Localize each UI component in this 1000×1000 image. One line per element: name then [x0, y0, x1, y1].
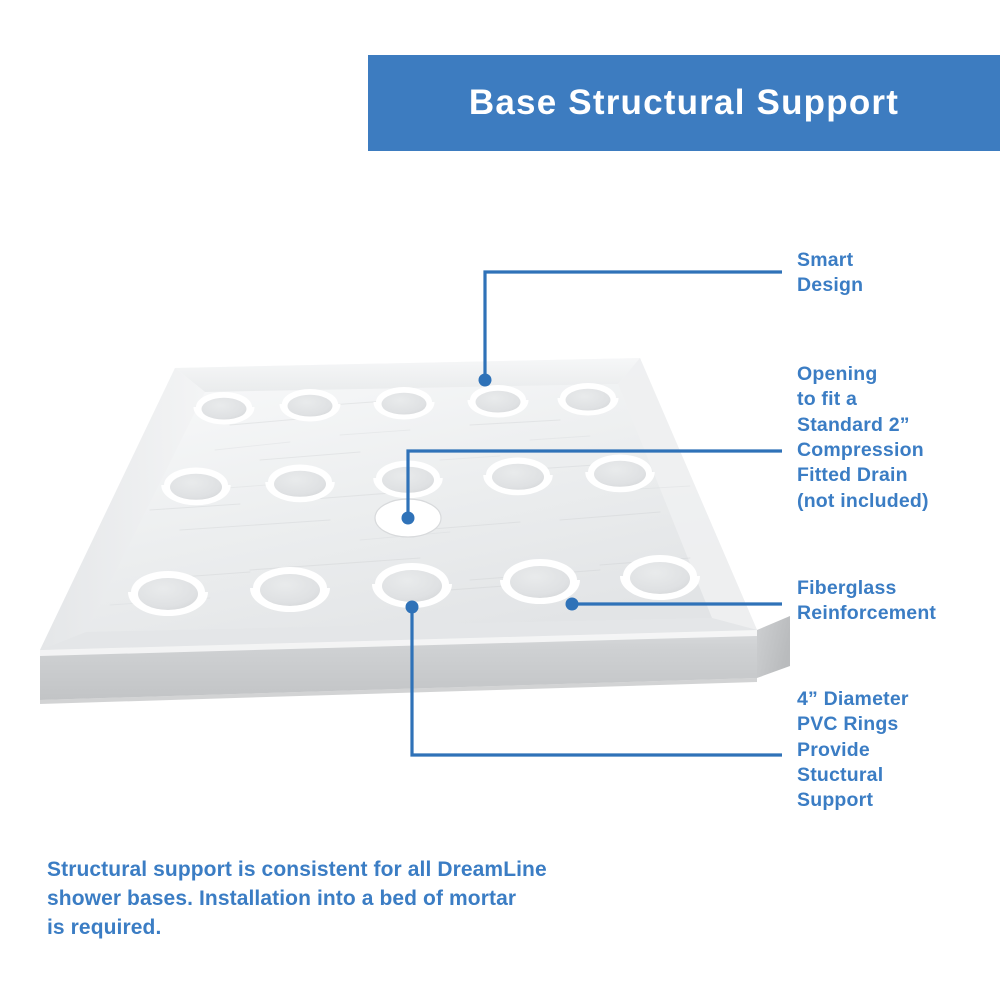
callout-line: Support [797, 788, 997, 813]
bottom-caption: Structural support is consistent for all… [47, 856, 667, 943]
infographic-page: Base Structural Support [0, 0, 1000, 1000]
caption-line: Structural support is consistent for all… [47, 856, 667, 885]
callout-drain-opening: Opening to fit a Standard 2” Compression… [797, 362, 1000, 514]
shower-base-illustration [0, 330, 800, 750]
callout-line: Provide [797, 738, 997, 763]
header-banner: Base Structural Support [368, 55, 1000, 151]
callout-line: Standard 2” [797, 413, 1000, 438]
callout-line: Fiberglass [797, 576, 997, 601]
callout-line: Stuctural [797, 763, 997, 788]
callout-line: (not included) [797, 489, 1000, 514]
pvc-ring [375, 563, 449, 605]
pvc-ring [376, 387, 432, 417]
callout-line: Design [797, 273, 997, 298]
pvc-ring [470, 385, 526, 415]
pvc-ring [560, 383, 616, 413]
pvc-ring [503, 559, 577, 601]
callout-pvc-rings: 4” Diameter PVC Rings Provide Stuctural … [797, 687, 997, 814]
callout-line: Compression [797, 438, 1000, 463]
caption-line: shower bases. Installation into a bed of… [47, 885, 667, 914]
pvc-ring [253, 567, 327, 609]
callout-line: Smart [797, 248, 997, 273]
callout-line: 4” Diameter [797, 687, 997, 712]
pvc-ring [164, 468, 228, 503]
callout-fiberglass: Fiberglass Reinforcement [797, 576, 997, 627]
pvc-ring [486, 458, 550, 493]
callout-line: PVC Rings [797, 712, 997, 737]
callout-line: to fit a [797, 387, 1000, 412]
pvc-ring [588, 455, 652, 490]
pvc-ring [623, 555, 697, 597]
drain-opening [375, 499, 441, 537]
callout-smart-design: Smart Design [797, 248, 997, 299]
pvc-ring [131, 571, 205, 613]
pvc-ring [268, 465, 332, 500]
pvc-ring [376, 461, 440, 496]
pvc-ring [196, 392, 252, 422]
callout-line: Opening [797, 362, 1000, 387]
callout-line: Fitted Drain [797, 463, 1000, 488]
pvc-ring [282, 389, 338, 419]
caption-line: is required. [47, 914, 667, 943]
callout-line: Reinforcement [797, 601, 997, 626]
page-title: Base Structural Support [469, 83, 899, 123]
